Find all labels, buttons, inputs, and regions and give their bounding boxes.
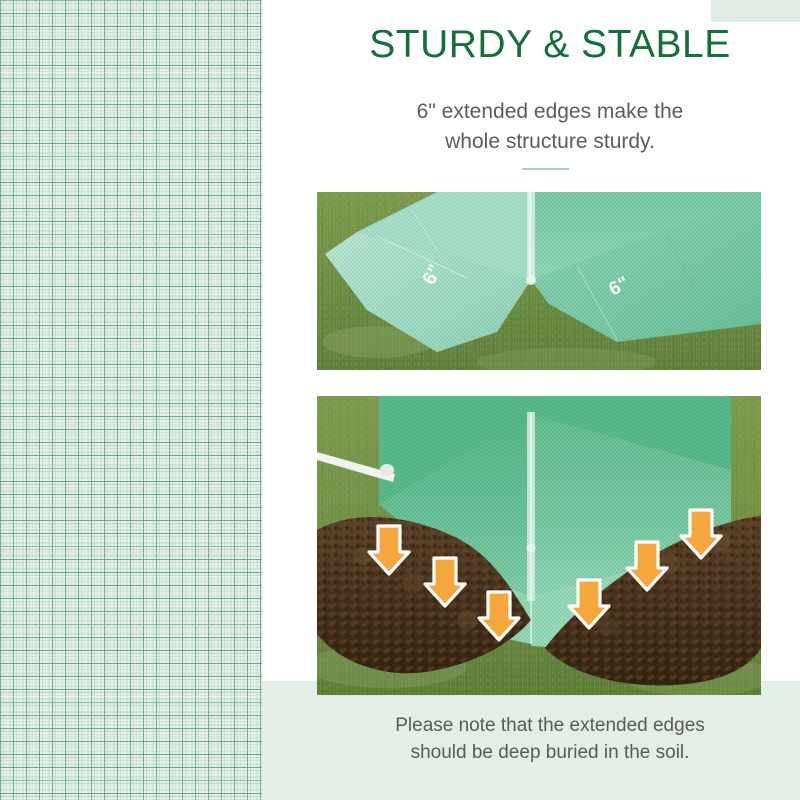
photo-buried-edges xyxy=(317,396,761,695)
product-feature-page: STURDY & STABLE 6" extended edges make t… xyxy=(0,0,800,800)
zipper-pull xyxy=(527,544,536,553)
photo-bottom-illustration xyxy=(317,396,761,695)
subtitle-line-2: whole structure sturdy. xyxy=(445,130,655,153)
zipper-pull xyxy=(526,275,536,285)
title-divider xyxy=(522,168,569,170)
page-title: STURDY & STABLE xyxy=(300,22,800,68)
page-subtitle: 6" extended edges make the whole structu… xyxy=(330,97,770,157)
corner-seam xyxy=(527,192,535,282)
subtitle-line-1: 6" extended edges make the xyxy=(417,100,684,123)
footer-note-line-2: should be deep buried in the soil. xyxy=(411,742,690,763)
photo-extended-edges: 6" 6" xyxy=(317,192,761,370)
graph-paper-panel xyxy=(0,0,262,800)
corner-accent-block xyxy=(711,0,800,22)
footer-note: Please note that the extended edges shou… xyxy=(330,712,770,766)
footer-note-line-1: Please note that the extended edges xyxy=(395,715,705,736)
photo-top-illustration: 6" 6" xyxy=(317,192,761,370)
